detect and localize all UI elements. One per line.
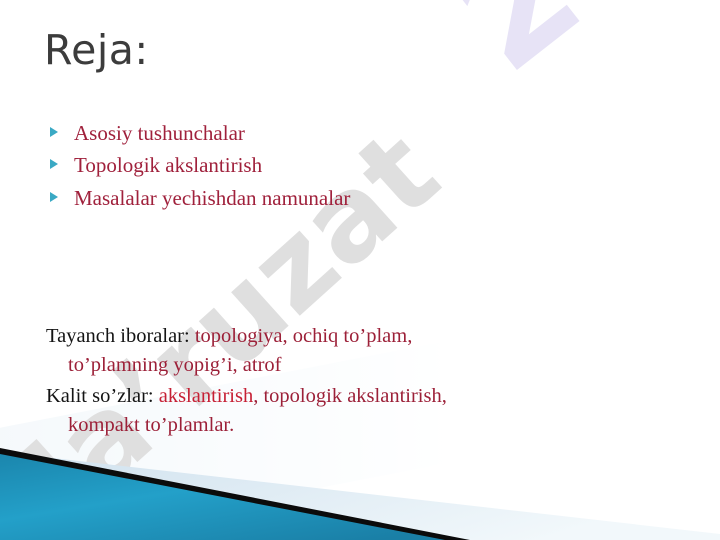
key-phrases-terms-line1: topologiya, ochiq to’plam, [195, 325, 413, 347]
key-words-label: Kalit so’zlar: [46, 385, 159, 407]
triangle-bullet-icon [50, 127, 58, 137]
presentation-slide: 24 Ma’ruzat [0, 0, 720, 540]
key-phrases-label: Tayanch iboralar: [46, 325, 195, 347]
key-words-paragraph: Kalit so’zlar: akslantirish, topologik a… [46, 382, 656, 440]
list-item-label: Masalalar yechishdan namunalar [74, 186, 350, 210]
list-item: Asosiy tushunchalar [48, 118, 648, 148]
page-title: Reja: [44, 28, 149, 73]
list-item: Masalalar yechishdan namunalar [48, 183, 648, 213]
key-words-term-highlight: akslantirish [159, 385, 254, 407]
list-item-label: Topologik akslantirish [74, 153, 262, 177]
slide-content: Reja: Asosiy tushunchalar Topologik aksl… [0, 0, 720, 540]
outline-list: Asosiy tushunchalar Topologik akslantiri… [48, 118, 648, 215]
list-item: Topologik akslantirish [48, 150, 648, 180]
list-item-label: Asosiy tushunchalar [74, 121, 245, 145]
key-phrases-terms-line2: to’plamning yopig’i, atrof [46, 351, 656, 380]
key-words-terms-line2: kompakt to’plamlar. [46, 411, 656, 440]
key-phrases-paragraph: Tayanch iboralar: topologiya, ochiq to’p… [46, 322, 656, 380]
triangle-bullet-icon [50, 159, 58, 169]
triangle-bullet-icon [50, 192, 58, 202]
key-terms-block: Tayanch iboralar: topologiya, ochiq to’p… [46, 322, 656, 442]
key-words-terms-rest: , topologik akslantirish, [253, 385, 447, 407]
